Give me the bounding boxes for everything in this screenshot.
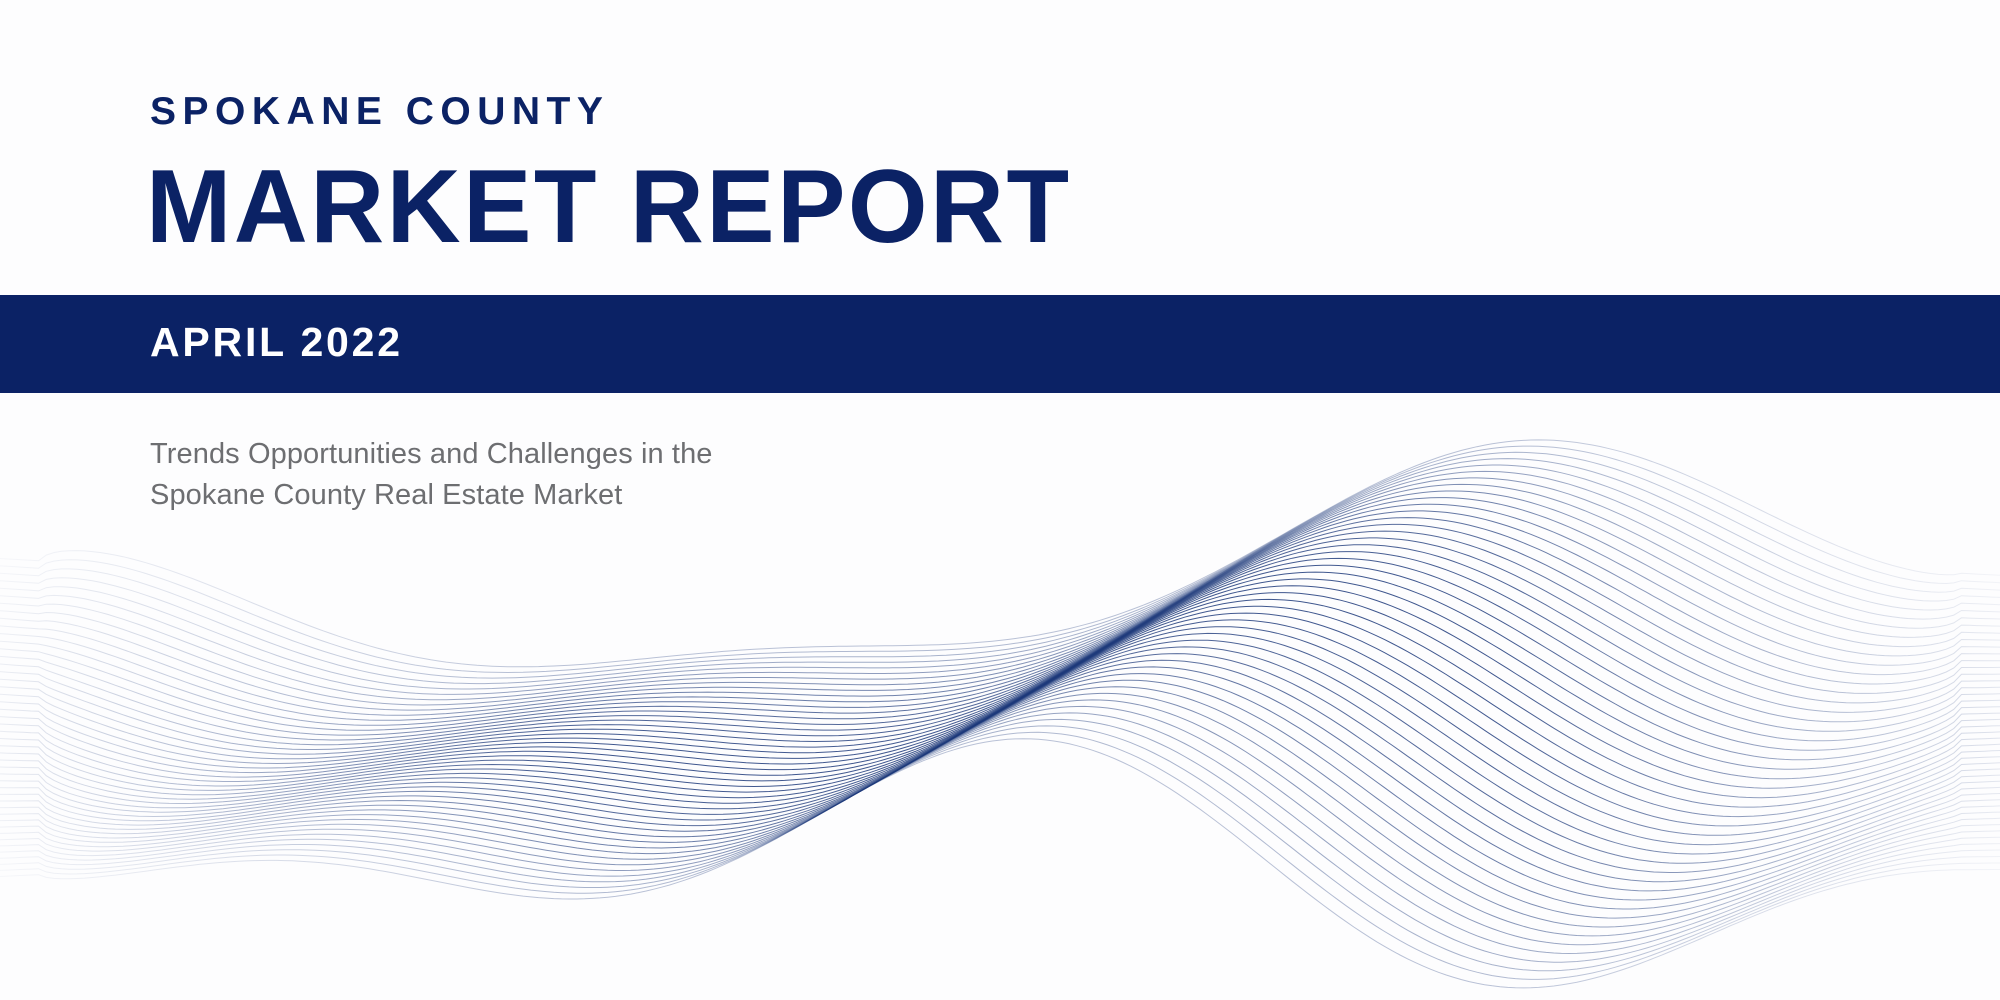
wave-line: [0, 606, 2000, 807]
wave-line: [0, 667, 2000, 891]
wave-line: [0, 693, 2000, 927]
eyebrow-title: SPOKANE COUNTY: [150, 92, 609, 131]
wave-line: [0, 491, 2000, 710]
wave-line: [0, 518, 2000, 731]
page-title: MARKET REPORT: [146, 155, 1072, 259]
wave-line: [0, 633, 2000, 844]
wave-line: [0, 660, 2000, 881]
wave-line: [0, 538, 2000, 745]
cover-page: SPOKANE COUNTY MARKET REPORT APRIL 2022 …: [0, 0, 2000, 1000]
wave-line: [0, 524, 2000, 735]
wave-line: [0, 504, 2000, 720]
wave-line: [0, 545, 2000, 750]
wave-line: [0, 579, 2000, 773]
wave-line: [0, 599, 2000, 797]
wave-line: [0, 484, 2000, 705]
wave-line: [0, 687, 2000, 918]
wave-edge-fade: [1500, 430, 2000, 1000]
wave-line: [0, 674, 2000, 900]
wave-line: [0, 706, 2000, 944]
wave-line: [0, 640, 2000, 854]
wave-line: [0, 647, 2000, 863]
subtitle-line-2: Spokane County Real Estate Market: [150, 475, 713, 516]
wave-line: [0, 713, 2000, 954]
wave-line: [0, 511, 2000, 725]
subtitle-line-1: Trends Opportunities and Challenges in t…: [150, 434, 713, 475]
wave-line: [0, 627, 2000, 836]
wave-line: [0, 498, 2000, 716]
wave-line: [0, 531, 2000, 740]
subtitle: Trends Opportunities and Challenges in t…: [150, 434, 713, 516]
wave-line: [0, 726, 2000, 971]
wave-line: [0, 593, 2000, 789]
date-band-label: APRIL 2022: [150, 322, 403, 363]
wave-line: [0, 719, 2000, 962]
wave-line: [0, 558, 2000, 758]
wave-line: [0, 586, 2000, 779]
wave-line: [0, 572, 2000, 768]
wave-line: [0, 654, 2000, 873]
wave-line: [0, 552, 2000, 755]
wave-line: [0, 739, 2000, 988]
wave-line: [0, 700, 2000, 936]
wave-line: [0, 680, 2000, 909]
wave-line: [0, 620, 2000, 826]
wave-line: [0, 613, 2000, 817]
date-band: APRIL 2022: [0, 295, 2000, 393]
wave-line: [0, 565, 2000, 763]
wave-line: [0, 732, 2000, 979]
